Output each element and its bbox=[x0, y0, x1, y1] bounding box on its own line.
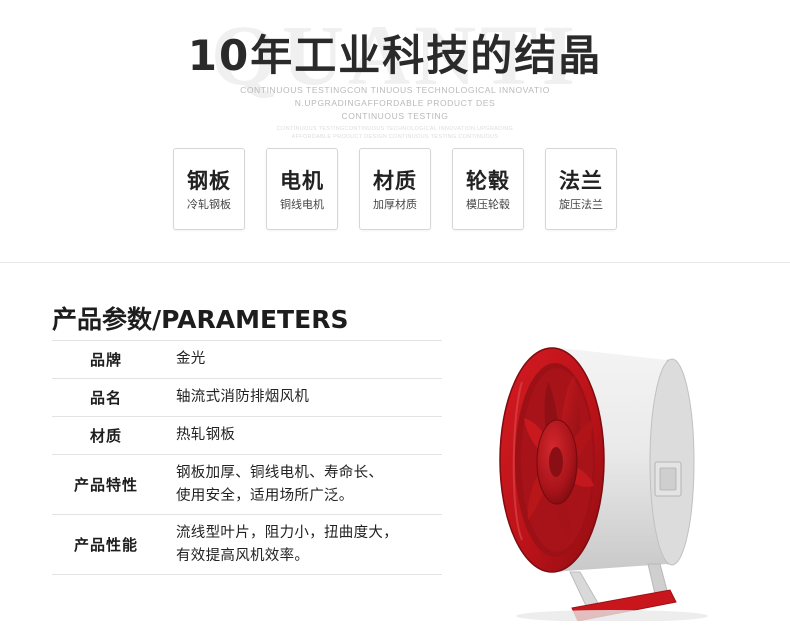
param-value-line-2: 使用安全，适用场所广泛。 bbox=[176, 485, 442, 508]
param-value-line-1: 热轧钢板 bbox=[176, 424, 442, 447]
feature-badge-title: 法兰 bbox=[559, 167, 603, 195]
page-title: 10年工业科技的结晶 bbox=[0, 22, 790, 83]
feature-badge-title: 电机 bbox=[280, 167, 324, 195]
banner-subtitle-line-1: CONTINUOUS TESTINGCON TINUOUS TECHNOLOGI… bbox=[0, 84, 790, 97]
param-value-line-1: 金光 bbox=[176, 348, 442, 371]
param-value: 流线型叶片，阻力小，扭曲度大， 有效提高风机效率。 bbox=[160, 515, 442, 575]
feature-badge-hub: 轮毂 模压轮毂 bbox=[452, 148, 524, 230]
feature-badge-material: 材质 加厚材质 bbox=[359, 148, 431, 230]
parameters-table: 品牌 金光 品名 轴流式消防排烟风机 材质 热轧钢板 产品特性 钢板加厚、铜线电… bbox=[52, 340, 442, 575]
param-key: 材质 bbox=[52, 417, 160, 455]
fan-junction-box-lid bbox=[660, 468, 676, 490]
param-key: 品名 bbox=[52, 379, 160, 417]
banner-subtitle-line-2: N.UPGRADINGAFFORDABLE PRODUCT DES bbox=[0, 97, 790, 110]
feature-badge-motor: 电机 铜线电机 bbox=[266, 148, 338, 230]
table-row: 材质 热轧钢板 bbox=[52, 417, 442, 455]
feature-badge-flange: 法兰 旋压法兰 bbox=[545, 148, 617, 230]
feature-badge-list: 钢板 冷轧钢板 电机 铜线电机 材质 加厚材质 轮毂 模压轮毂 法兰 旋压法兰 bbox=[0, 148, 790, 230]
feature-badge-title: 材质 bbox=[373, 167, 417, 195]
feature-badge-title: 轮毂 bbox=[466, 167, 510, 195]
hero-banner: QUANTI 10年工业科技的结晶 CONTINUOUS TESTINGCON … bbox=[0, 0, 790, 258]
feature-badge-steel-plate: 钢板 冷轧钢板 bbox=[173, 148, 245, 230]
table-row: 产品性能 流线型叶片，阻力小，扭曲度大， 有效提高风机效率。 bbox=[52, 515, 442, 575]
param-value-line-1: 钢板加厚、铜线电机、寿命长、 bbox=[176, 462, 442, 485]
fan-ground-shadow bbox=[516, 610, 708, 621]
param-value: 热轧钢板 bbox=[160, 417, 442, 455]
axial-fan-illustration bbox=[452, 272, 772, 621]
param-value: 轴流式消防排烟风机 bbox=[160, 379, 442, 417]
param-value-line-1: 流线型叶片，阻力小，扭曲度大， bbox=[176, 522, 442, 545]
table-row: 品名 轴流式消防排烟风机 bbox=[52, 379, 442, 417]
banner-subtitle-line-5: AFFORDABLE PRODUCT DESIGN CONTINUOUS TES… bbox=[0, 131, 790, 144]
parameters-section: 产品参数/PARAMETERS 品牌 金光 品名 轴流式消防排烟风机 材质 热轧… bbox=[0, 272, 790, 621]
fan-mounting-leg-rear bbox=[648, 564, 668, 594]
table-row: 产品特性 钢板加厚、铜线电机、寿命长、 使用安全，适用场所广泛。 bbox=[52, 455, 442, 515]
feature-badge-subtitle: 模压轮毂 bbox=[466, 198, 510, 212]
banner-subtitle-line-3: CONTINUOUS TESTING bbox=[0, 110, 790, 123]
feature-badge-subtitle: 旋压法兰 bbox=[559, 198, 603, 212]
param-key: 产品特性 bbox=[52, 455, 160, 515]
param-value: 钢板加厚、铜线电机、寿命长、 使用安全，适用场所广泛。 bbox=[160, 455, 442, 515]
param-key: 产品性能 bbox=[52, 515, 160, 575]
table-row: 品牌 金光 bbox=[52, 341, 442, 379]
parameters-heading: 产品参数/PARAMETERS bbox=[52, 300, 348, 336]
feature-badge-subtitle: 冷轧钢板 bbox=[187, 198, 231, 212]
param-value-line-1: 轴流式消防排烟风机 bbox=[176, 386, 442, 409]
fan-hub-center bbox=[549, 447, 563, 477]
feature-badge-subtitle: 铜线电机 bbox=[280, 198, 324, 212]
feature-badge-title: 钢板 bbox=[187, 167, 231, 195]
feature-badge-subtitle: 加厚材质 bbox=[373, 198, 417, 212]
param-value-line-2: 有效提高风机效率。 bbox=[176, 545, 442, 568]
param-value: 金光 bbox=[160, 341, 442, 379]
param-key: 品牌 bbox=[52, 341, 160, 379]
product-image bbox=[452, 272, 772, 621]
section-divider bbox=[0, 262, 790, 263]
